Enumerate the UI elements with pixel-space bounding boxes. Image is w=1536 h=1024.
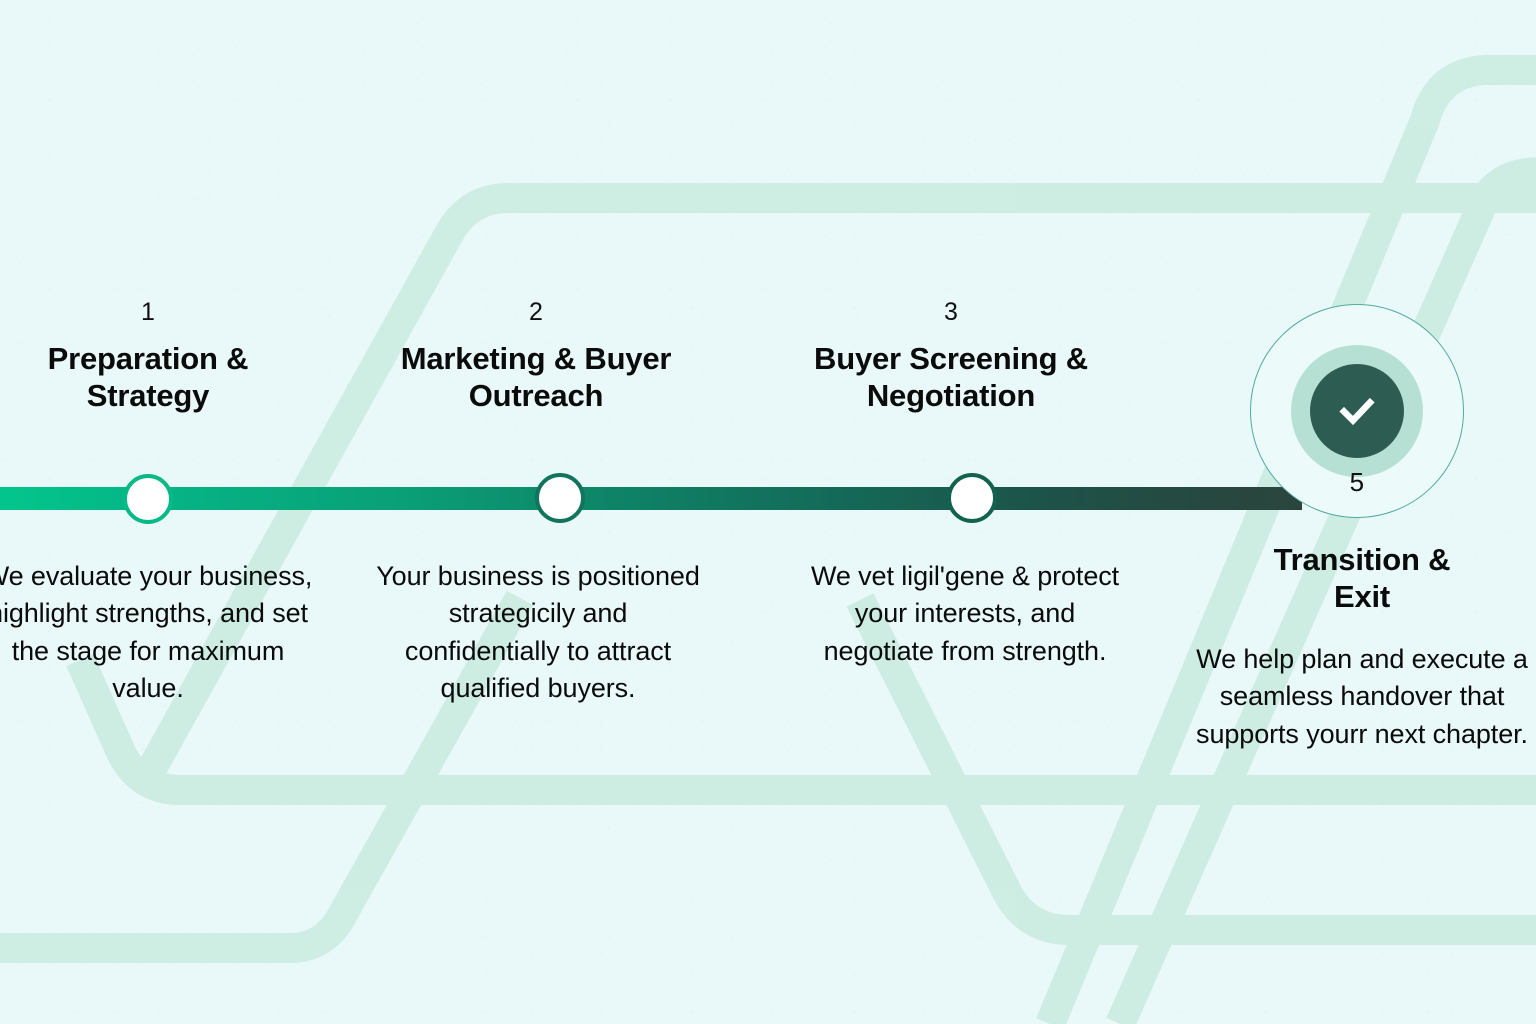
- step-title-5-line1: Transition &: [1192, 542, 1532, 579]
- step-title-1: Preparation & Strategy: [0, 341, 313, 414]
- step-number-3: 3: [786, 300, 1116, 325]
- step-title-2-line1: Marketing & Buyer: [371, 341, 701, 378]
- step-title-3-line2: Negotiation: [786, 378, 1116, 415]
- timeline-node-3[interactable]: [947, 473, 997, 523]
- step-description-3: We vet ligil'gene & protect your interes…: [800, 558, 1130, 670]
- step-title-3: Buyer Screening & Negotiation: [786, 341, 1116, 414]
- timeline: 5 1 Preparation & Strategy We evaluate y…: [0, 0, 1536, 1024]
- step-description-2: Your business is positioned strategicily…: [373, 558, 703, 707]
- step-number-1: 1: [0, 300, 313, 325]
- step-3-body: We vet ligil'gene & protect your interes…: [800, 558, 1130, 670]
- step-title-1-line2: Strategy: [0, 378, 313, 415]
- step-5-body: Transition & Exit We help plan and execu…: [1192, 542, 1532, 753]
- step-title-5-line2: Exit: [1192, 579, 1532, 616]
- step-title-5: Transition & Exit: [1192, 542, 1532, 615]
- step-description-1: We evaluate your business, highlight str…: [0, 558, 313, 707]
- step-2-header: 2 Marketing & Buyer Outreach: [371, 300, 701, 414]
- step-title-2-line2: Outreach: [371, 378, 701, 415]
- step-1-body: We evaluate your business, highlight str…: [0, 558, 313, 707]
- step-title-1-line1: Preparation &: [0, 341, 313, 378]
- check-icon: [1331, 385, 1383, 437]
- step-2-body: Your business is positioned strategicily…: [373, 558, 703, 707]
- step-title-3-line1: Buyer Screening &: [786, 341, 1116, 378]
- step-number-2: 2: [371, 300, 701, 325]
- step-number-5: 5: [1250, 467, 1464, 498]
- step-3-header: 3 Buyer Screening & Negotiation: [786, 300, 1116, 414]
- timeline-node-2[interactable]: [535, 473, 585, 523]
- timeline-graphic: 5 1 Preparation & Strategy We evaluate y…: [0, 0, 1536, 1024]
- step-1-header: 1 Preparation & Strategy: [0, 300, 313, 414]
- timeline-node-1[interactable]: [123, 474, 173, 524]
- timeline-track: [0, 487, 1302, 510]
- step-title-2: Marketing & Buyer Outreach: [371, 341, 701, 414]
- final-inner-circle: [1310, 364, 1404, 458]
- timeline-node-5[interactable]: 5: [1250, 304, 1464, 518]
- step-description-5: We help plan and execute a seamless hand…: [1192, 641, 1532, 753]
